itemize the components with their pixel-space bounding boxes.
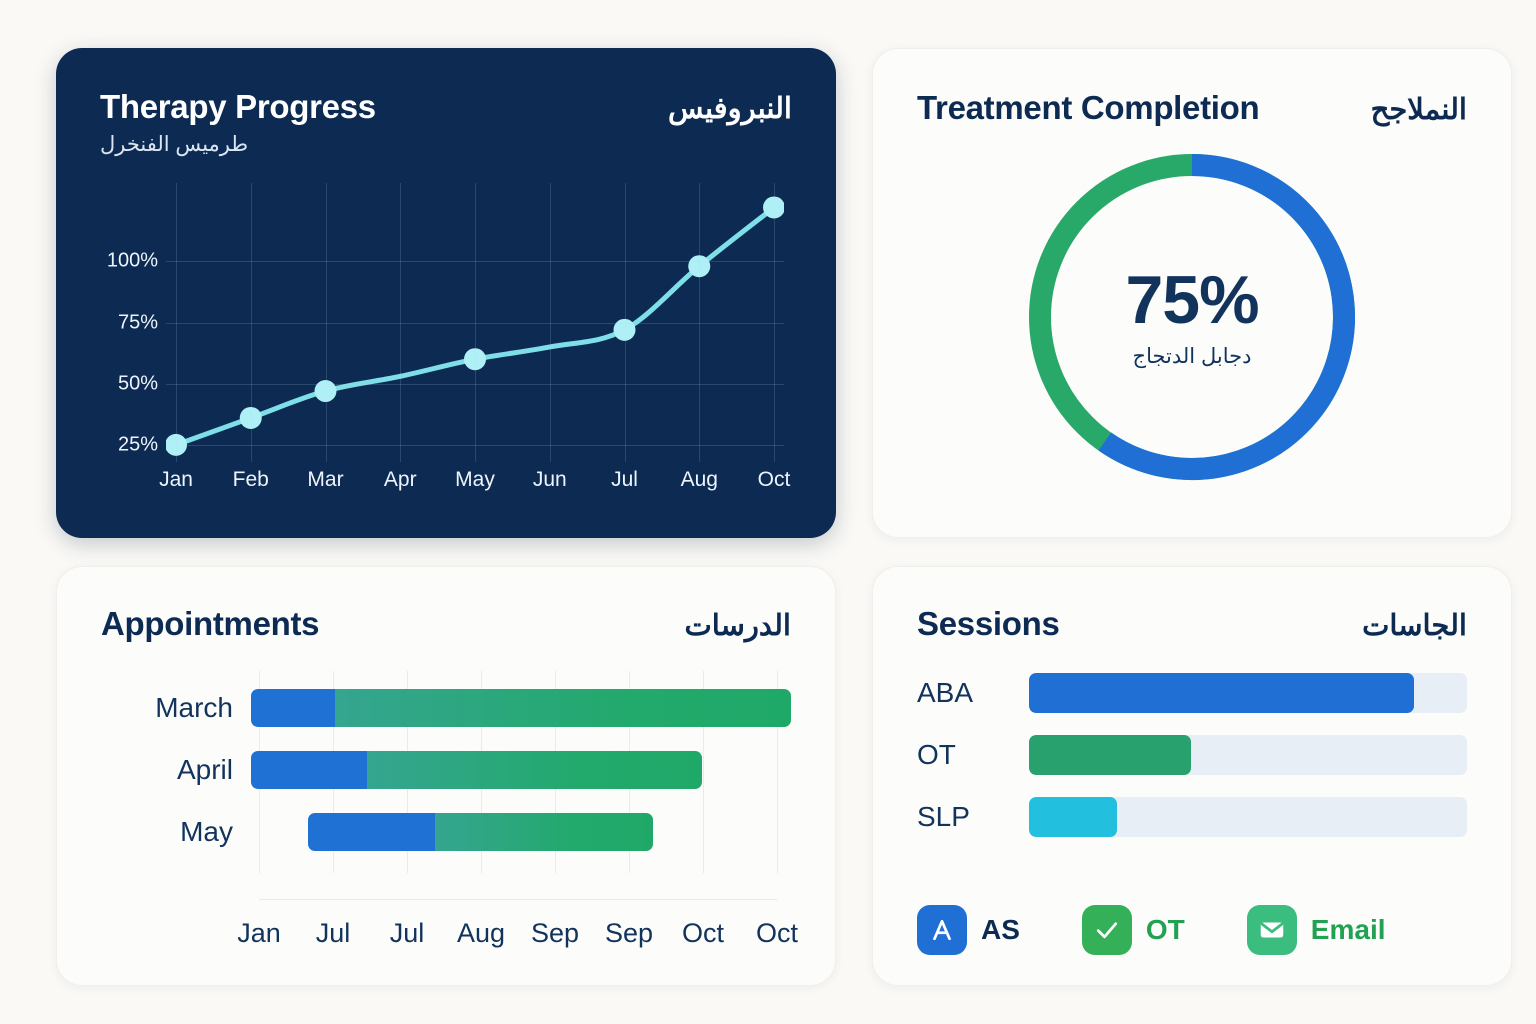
therapy-x-tick: Jun <box>533 468 567 492</box>
legend-label: AS <box>981 914 1020 946</box>
appointment-row[interactable]: May <box>101 801 791 863</box>
therapy-gridline-vertical <box>550 183 551 462</box>
donut-chart-wrapper: 75% دجابل الدتجاج <box>917 131 1467 503</box>
therapy-y-tick: 50% <box>118 372 158 395</box>
therapy-card-header: Therapy Progress طرميس الفنخرل النبروفيس <box>100 88 792 157</box>
therapy-title-block: Therapy Progress طرميس الفنخرل <box>100 88 376 157</box>
therapy-title-en: Therapy Progress <box>100 88 376 126</box>
therapy-x-axis: JanFebMarAprMayJunJulAugOct <box>166 468 784 500</box>
check-icon <box>1082 905 1132 955</box>
therapy-gridline-vertical <box>251 183 252 462</box>
therapy-subtitle-ar: طرميس الفنخرل <box>100 132 376 157</box>
therapy-gridline-vertical <box>475 183 476 462</box>
therapy-gridline-vertical <box>774 183 775 462</box>
therapy-y-tick: 75% <box>118 311 158 334</box>
therapy-gridline-vertical <box>326 183 327 462</box>
therapy-x-tick: Jul <box>611 468 638 492</box>
appointment-track <box>251 739 791 801</box>
legend-item[interactable]: OT <box>1082 905 1185 955</box>
appointment-segment-completed <box>435 813 654 851</box>
appointments-x-axis: JanJulJulAugSepSepOctOct <box>259 899 777 957</box>
appointment-segment-scheduled <box>308 813 435 851</box>
appointment-row[interactable]: March <box>101 677 791 739</box>
donut-center-labels: 75% دجابل الدتجاج <box>1016 141 1368 493</box>
appointments-x-tick: Oct <box>682 918 724 949</box>
therapy-x-tick: Oct <box>758 468 791 492</box>
session-type-label: ABA <box>917 677 1029 709</box>
appointment-stacked-bar[interactable] <box>251 689 791 727</box>
therapy-x-tick: Feb <box>233 468 269 492</box>
session-row[interactable]: ABA <box>917 673 1467 713</box>
legend-label: OT <box>1146 914 1185 946</box>
sessions-chart: ABAOTSLP ASOTEmail <box>917 673 1467 955</box>
appointments-title-en: Appointments <box>101 605 319 643</box>
session-row[interactable]: SLP <box>917 797 1467 837</box>
appointment-segment-completed <box>367 751 702 789</box>
appointment-stacked-bar[interactable] <box>251 751 702 789</box>
legend-label: Email <box>1311 914 1386 946</box>
sessions-bar-rows: ABAOTSLP <box>917 673 1467 837</box>
session-type-label: OT <box>917 739 1029 771</box>
treatment-donut-chart: 75% دجابل الدتجاج <box>1016 141 1368 493</box>
sessions-card: Sessions الجاسات ABAOTSLP ASOTEmail <box>872 566 1512 986</box>
appointment-month-label: March <box>101 692 251 724</box>
appointments-x-tick: Aug <box>457 918 505 949</box>
appointment-month-label: May <box>101 816 251 848</box>
sessions-card-header: Sessions الجاسات <box>917 605 1467 643</box>
appointment-track <box>251 801 791 863</box>
appointment-row[interactable]: April <box>101 739 791 801</box>
appointment-track <box>251 677 791 739</box>
appointments-x-tick: Jul <box>316 918 351 949</box>
therapy-progress-card: Therapy Progress طرميس الفنخرل النبروفيس… <box>56 48 836 538</box>
session-progress-fill <box>1029 673 1414 713</box>
donut-percentage: 75% <box>1125 266 1258 334</box>
completion-card-header: Treatment Completion النملاجح <box>917 89 1467 127</box>
appointment-segment-scheduled <box>251 751 367 789</box>
legend-item[interactable]: Email <box>1247 905 1386 955</box>
therapy-plot-area <box>166 183 784 462</box>
therapy-line-chart: 25%50%75%100% JanFebMarAprMayJunJulAugOc… <box>100 183 792 508</box>
appointments-card-header: Appointments الدرسات <box>101 605 791 643</box>
donut-arabic-caption: دجابل الدتجاج <box>1133 344 1252 369</box>
session-progress-track <box>1029 797 1467 837</box>
session-progress-track <box>1029 673 1467 713</box>
therapy-x-tick: Aug <box>681 468 718 492</box>
therapy-gridline-vertical <box>176 183 177 462</box>
appointments-chart: MarchAprilMay JanJulJulAugSepSepOctOct <box>101 671 791 957</box>
appointments-x-tick: Sep <box>531 918 579 949</box>
appointments-card: Appointments الدرسات MarchAprilMay JanJu… <box>56 566 836 986</box>
session-progress-fill <box>1029 735 1191 775</box>
appointment-stacked-bar[interactable] <box>308 813 654 851</box>
session-row[interactable]: OT <box>917 735 1467 775</box>
appointments-x-tick: Jan <box>237 918 281 949</box>
session-progress-fill <box>1029 797 1117 837</box>
appointments-x-tick: Sep <box>605 918 653 949</box>
appointment-segment-scheduled <box>251 689 335 727</box>
sessions-title-ar: الجاسات <box>1362 608 1467 643</box>
appointments-x-tick: Jul <box>390 918 425 949</box>
dashboard-board: Therapy Progress طرميس الفنخرل النبروفيس… <box>0 0 1536 1024</box>
appointments-x-tick: Oct <box>756 918 798 949</box>
appointment-segment-completed <box>335 689 791 727</box>
sessions-title-en: Sessions <box>917 605 1060 643</box>
therapy-x-tick: Jan <box>159 468 193 492</box>
therapy-gridline-vertical <box>699 183 700 462</box>
therapy-gridline-vertical <box>625 183 626 462</box>
therapy-y-tick: 25% <box>118 433 158 456</box>
appointment-month-label: April <box>101 754 251 786</box>
letter-a-icon <box>917 905 967 955</box>
appointments-rows: MarchAprilMay <box>101 671 791 899</box>
completion-title-ar: النملاجح <box>1371 92 1467 127</box>
sessions-legend: ASOTEmail <box>917 879 1467 955</box>
therapy-x-tick: Mar <box>307 468 343 492</box>
treatment-completion-card: Treatment Completion النملاجح 75% دجابل … <box>872 48 1512 538</box>
session-progress-track <box>1029 735 1467 775</box>
therapy-gridline-vertical <box>400 183 401 462</box>
legend-item[interactable]: AS <box>917 905 1020 955</box>
therapy-y-axis: 25%50%75%100% <box>100 183 166 462</box>
therapy-x-tick: Apr <box>384 468 417 492</box>
therapy-y-tick: 100% <box>107 250 158 273</box>
therapy-x-tick: May <box>455 468 495 492</box>
completion-title-en: Treatment Completion <box>917 89 1259 127</box>
session-type-label: SLP <box>917 801 1029 833</box>
therapy-title-ar: النبروفيس <box>668 91 792 126</box>
envelope-icon <box>1247 905 1297 955</box>
appointments-title-ar: الدرسات <box>684 608 791 643</box>
